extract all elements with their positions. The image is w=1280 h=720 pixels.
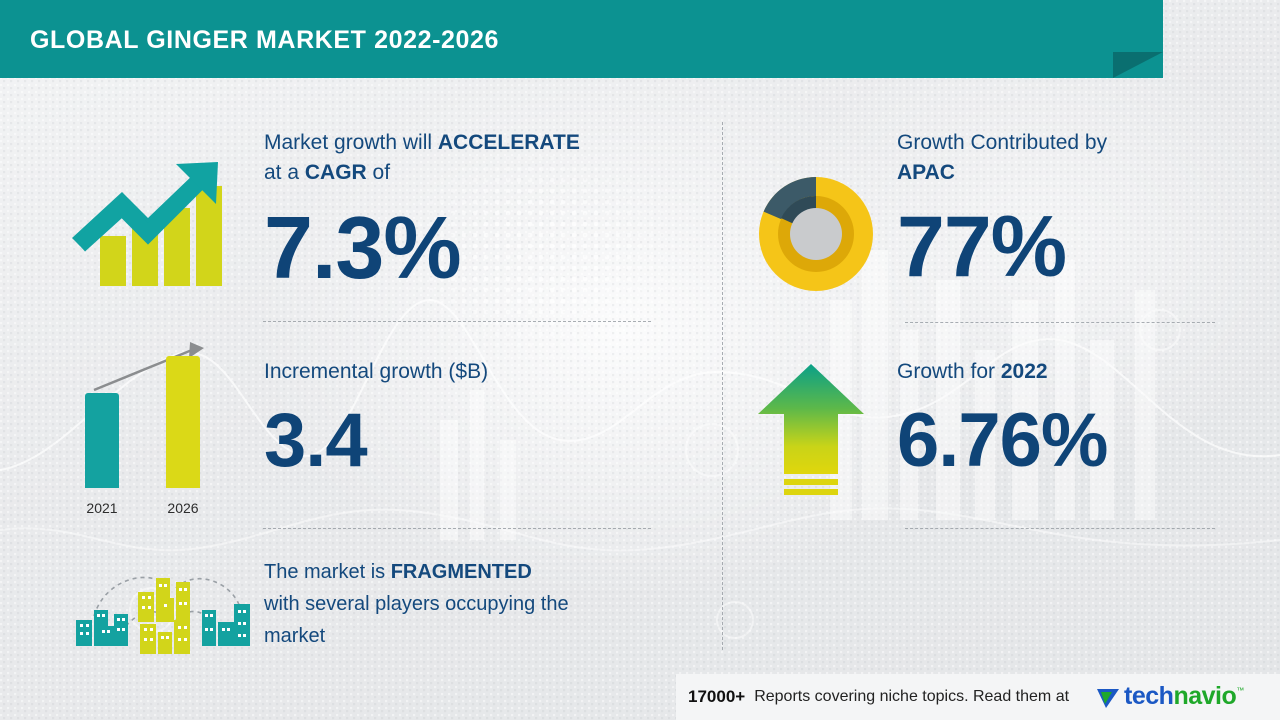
right-divider-2: [905, 528, 1215, 529]
infographic-page: GLOBAL GINGER MARKET 2022-2026 Market gr…: [0, 0, 1280, 720]
stat-fragmented-label-line2: with several players occupying the: [264, 588, 569, 620]
stat-growth-2022-value: 6.76%: [897, 403, 1108, 479]
left-divider-1: [263, 321, 651, 322]
technavio-logo-trademark: ™: [1236, 686, 1244, 695]
bar-2021: [85, 393, 119, 488]
buildings-network-icon: [76, 558, 256, 658]
stat-fragmented: The market is FRAGMENTED with several pl…: [264, 556, 569, 652]
header-banner: GLOBAL GINGER MARKET 2022-2026: [0, 0, 1163, 78]
technavio-mark-icon: [1095, 686, 1121, 710]
technavio-logo[interactable]: tech navio ™: [1095, 684, 1244, 710]
stat-incremental-growth-value: 3.4: [264, 403, 488, 479]
stat-cagr-label-line1: Market growth will ACCELERATE: [264, 128, 580, 158]
donut-chart-icon: [745, 163, 887, 305]
footer-report-count: 17000+: [688, 687, 745, 707]
bar-label-2026: 2026: [158, 500, 208, 516]
column-divider: [722, 122, 723, 650]
stat-apac-label-line1: Growth Contributed by: [897, 128, 1107, 158]
technavio-logo-navio: navio: [1173, 684, 1236, 709]
stat-growth-2022: Growth for 2022 6.76%: [897, 357, 1108, 479]
technavio-logo-tech: tech: [1124, 684, 1173, 709]
stat-apac: Growth Contributed by APAC 77%: [897, 128, 1107, 290]
stat-incremental-growth: Incremental growth ($B) 3.4: [264, 357, 488, 479]
stat-apac-value: 77%: [897, 204, 1107, 290]
bar-2026: [166, 356, 200, 488]
stat-incremental-growth-label: Incremental growth ($B): [264, 357, 488, 387]
left-divider-2: [263, 528, 651, 529]
footer-text: Reports covering niche topics. Read them…: [754, 688, 1069, 706]
stat-apac-label-line2: APAC: [897, 158, 1107, 188]
two-bar-comparison-icon: 2021 2026: [78, 336, 248, 516]
page-title: GLOBAL GINGER MARKET 2022-2026: [30, 26, 499, 55]
stat-fragmented-label-line1: The market is FRAGMENTED: [264, 556, 569, 588]
stat-growth-2022-label: Growth for 2022: [897, 357, 1108, 387]
right-divider-1: [905, 322, 1215, 323]
stat-fragmented-label-line3: market: [264, 620, 569, 652]
footer-bar: 17000+ Reports covering niche topics. Re…: [676, 674, 1280, 720]
stat-cagr: Market growth will ACCELERATE at a CAGR …: [264, 128, 580, 292]
header-fold-corner: [1113, 52, 1163, 78]
stat-cagr-value: 7.3%: [264, 204, 580, 292]
stat-cagr-label-line2: at a CAGR of: [264, 158, 580, 188]
bar-label-2021: 2021: [78, 500, 126, 516]
up-arrow-gradient-icon: [756, 362, 866, 507]
growth-arrow-bar-chart-icon: [72, 158, 232, 290]
